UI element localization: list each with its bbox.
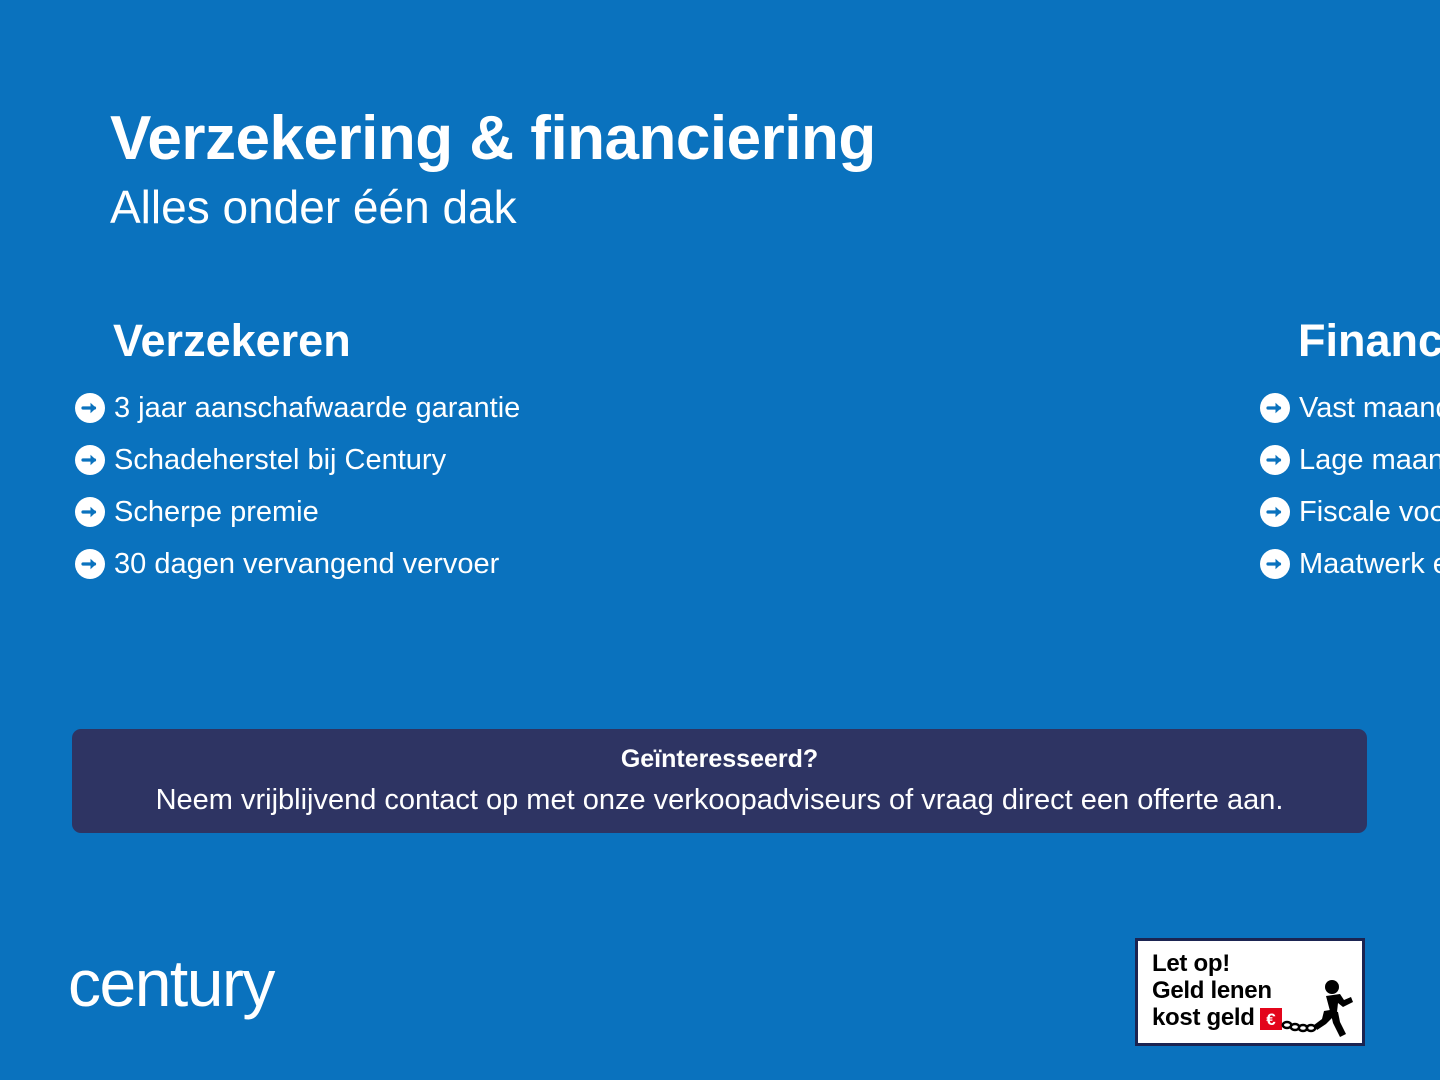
arrow-right-circle-icon bbox=[75, 497, 105, 527]
arrow-right-circle-icon bbox=[1260, 445, 1290, 475]
century-logo: century bbox=[68, 950, 274, 1016]
cta-banner[interactable]: Geïnteresseerd? Neem vrijblijvend contac… bbox=[72, 729, 1367, 833]
bullet-label: Fiscale voordelen bbox=[1299, 498, 1440, 527]
list-item: Fiscale voordelen bbox=[1260, 495, 1297, 529]
bullet-label: Scherpe premie bbox=[114, 498, 319, 527]
bullet-label: Maatwerk en advies van onze experts bbox=[1299, 550, 1440, 579]
page-title: Verzekering & financiering bbox=[110, 108, 1310, 170]
list-item: Vast maandbedrag, looptijd en rente bbox=[1260, 391, 1297, 425]
bullet-list-financieren: Vast maandbedrag, looptijd en rente Lage… bbox=[1260, 391, 1297, 581]
bullet-list-verzekeren: 3 jaar aanschafwaarde garantie Schadeher… bbox=[75, 391, 630, 581]
cta-body: Neem vrijblijvend contact op met onze ve… bbox=[156, 786, 1284, 815]
column-verzekeren: Verzekeren 3 jaar aanschafwaarde garanti… bbox=[0, 318, 630, 599]
bullet-label: Vast maandbedrag, looptijd en rente bbox=[1299, 394, 1440, 423]
cta-title: Geïnteresseerd? bbox=[621, 747, 818, 772]
bullet-label: Lage maandlasten door hoge restwaarde bbox=[1299, 446, 1440, 475]
list-item: 3 jaar aanschafwaarde garantie bbox=[75, 391, 630, 425]
afm-warning-badge: Let op! Geld lenen kost geld € bbox=[1135, 938, 1365, 1046]
column-heading-verzekeren: Verzekeren bbox=[113, 318, 630, 363]
slide-canvas: Verzekering & financiering Alles onder é… bbox=[0, 0, 1440, 1080]
arrow-right-circle-icon bbox=[1260, 497, 1290, 527]
page-subtitle: Alles onder één dak bbox=[110, 184, 1310, 230]
list-item: Maatwerk en advies van onze experts bbox=[1260, 547, 1297, 581]
bullet-label: Schadeherstel bij Century bbox=[114, 446, 446, 475]
arrow-right-circle-icon bbox=[75, 445, 105, 475]
arrow-right-circle-icon bbox=[75, 393, 105, 423]
bullet-label: 30 dagen vervangend vervoer bbox=[114, 550, 499, 579]
list-item: Scherpe premie bbox=[75, 495, 630, 529]
bullet-label: 3 jaar aanschafwaarde garantie bbox=[114, 394, 520, 423]
list-item: Lage maandlasten door hoge restwaarde bbox=[1260, 443, 1297, 477]
list-item: Schadeherstel bij Century bbox=[75, 443, 630, 477]
afm-warning-text: Let op! Geld lenen kost geld bbox=[1152, 950, 1272, 1031]
afm-line-2: Geld lenen bbox=[1152, 977, 1272, 1004]
afm-line-3: kost geld bbox=[1152, 1004, 1272, 1031]
list-item: 30 dagen vervangend vervoer bbox=[75, 547, 630, 581]
arrow-right-circle-icon bbox=[1260, 393, 1290, 423]
walking-person-with-euro-ball-and-chain-icon: € bbox=[1260, 978, 1356, 1040]
header-block: Verzekering & financiering Alles onder é… bbox=[110, 108, 1310, 230]
arrow-right-circle-icon bbox=[1260, 549, 1290, 579]
feature-columns: Verzekeren 3 jaar aanschafwaarde garanti… bbox=[0, 318, 1440, 599]
column-financieren: Financieren Vast maandbedrag, looptijd e… bbox=[557, 318, 1297, 599]
afm-line-1: Let op! bbox=[1152, 950, 1272, 977]
arrow-right-circle-icon bbox=[75, 549, 105, 579]
svg-text:€: € bbox=[1266, 1010, 1276, 1029]
